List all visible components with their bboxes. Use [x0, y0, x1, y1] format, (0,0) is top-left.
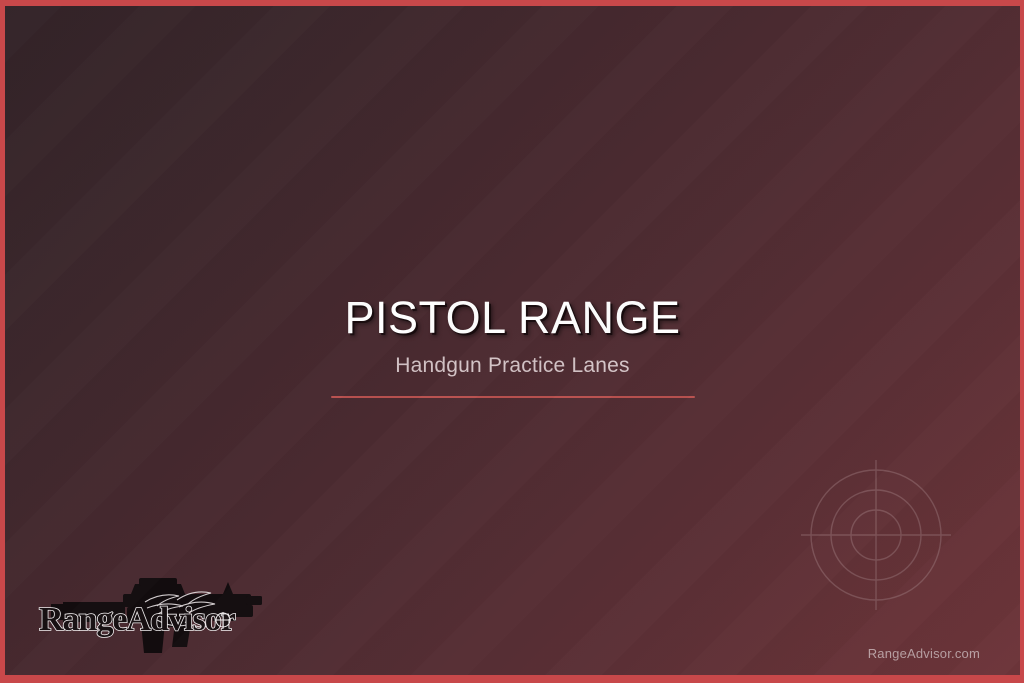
page-title: PISTOL RANGE	[5, 294, 1020, 342]
title-divider	[331, 396, 695, 398]
target-crosshair-icon	[799, 458, 953, 612]
footer-url: RangeAdvisor.com	[868, 646, 980, 661]
page-subtitle: Handgun Practice Lanes	[5, 354, 1020, 378]
presentation-slide: PISTOL RANGE Handgun Practice Lanes	[0, 0, 1024, 683]
logo-wordmark: RangeAdvisor	[39, 601, 236, 638]
rangeadvisor-logo: RangeAdvisor	[27, 572, 265, 660]
slide-canvas: PISTOL RANGE Handgun Practice Lanes	[5, 6, 1020, 675]
title-block: PISTOL RANGE Handgun Practice Lanes	[5, 294, 1020, 398]
